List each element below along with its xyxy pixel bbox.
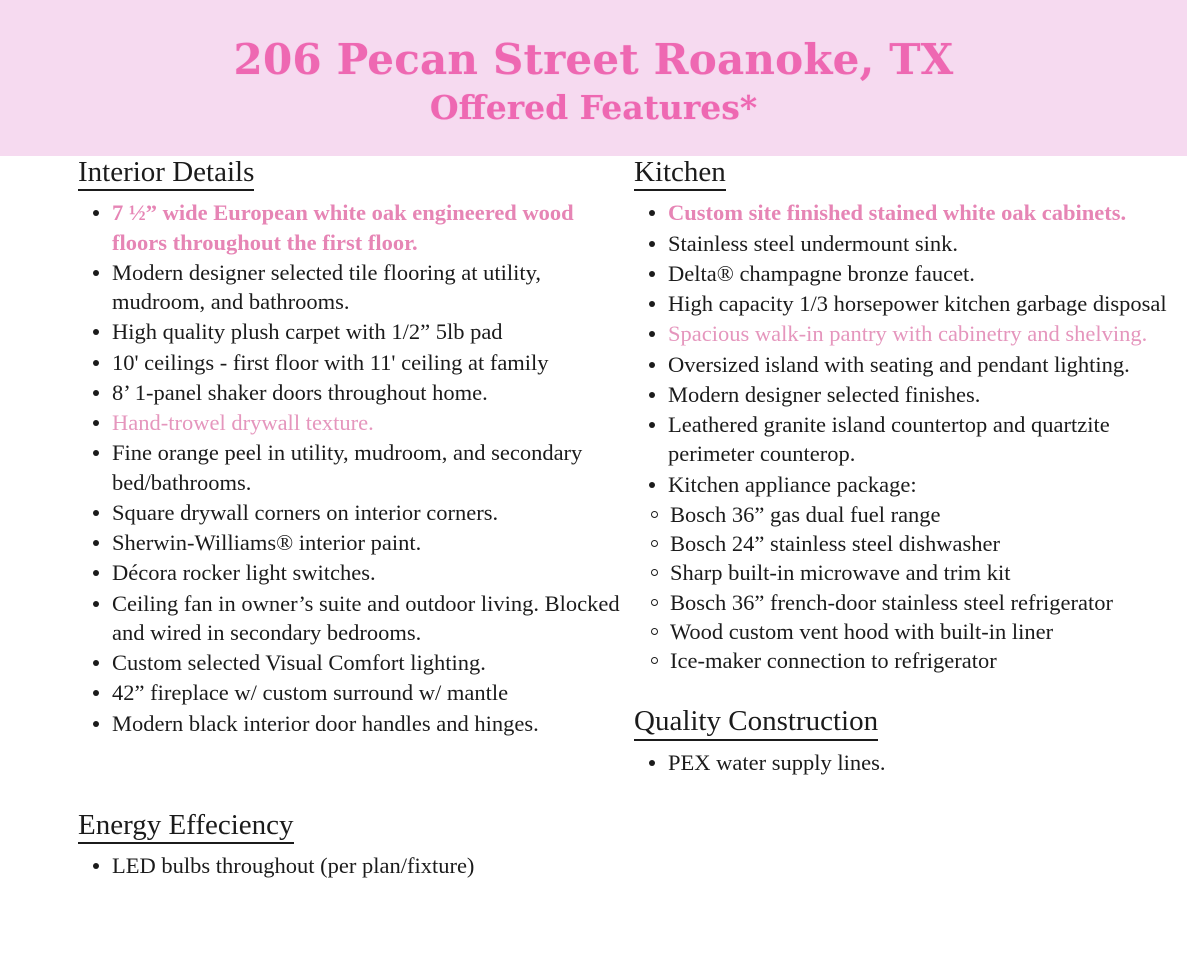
- list-item: Bosch 36” gas dual fuel range: [634, 500, 1187, 529]
- list-item: Custom site finished stained white oak c…: [634, 198, 1187, 227]
- interior-details-list: 7 ½” wide European white oak engineered …: [78, 198, 634, 738]
- energy-efficiency-list: LED bulbs throughout (per plan/fixture): [78, 851, 634, 880]
- list-item: Bosch 36” french-door stainless steel re…: [634, 588, 1187, 617]
- list-item: Wood custom vent hood with built-in line…: [634, 617, 1187, 646]
- list-item: Ice-maker connection to refrigerator: [634, 646, 1187, 675]
- column-spacer: [78, 739, 634, 809]
- list-item: 8’ 1-panel shaker doors throughout home.: [78, 378, 634, 407]
- list-item: Hand-trowel drywall texture.: [78, 408, 634, 437]
- section-heading-quality-construction: Quality Construction: [634, 705, 878, 740]
- content-columns: Interior Details 7 ½” wide European whit…: [0, 156, 1187, 881]
- section-heading-kitchen: Kitchen: [634, 156, 726, 191]
- list-item: Oversized island with seating and pendan…: [634, 350, 1187, 379]
- list-item: High capacity 1/3 horsepower kitchen gar…: [634, 289, 1187, 318]
- list-item: 7 ½” wide European white oak engineered …: [78, 198, 634, 257]
- list-item: Stainless steel undermount sink.: [634, 229, 1187, 258]
- list-item: High quality plush carpet with 1/2” 5lb …: [78, 317, 634, 346]
- section-heading-interior-details: Interior Details: [78, 156, 254, 191]
- right-column: Kitchen Custom site finished stained whi…: [634, 156, 1187, 881]
- page-header-band: 206 Pecan Street Roanoke, TX Offered Fea…: [0, 0, 1187, 156]
- kitchen-list: Custom site finished stained white oak c…: [634, 198, 1187, 499]
- list-item: Sherwin-Williams® interior paint.: [78, 528, 634, 557]
- section-quality-construction: Quality Construction PEX water supply li…: [634, 705, 1187, 777]
- list-item: Décora rocker light switches.: [78, 558, 634, 587]
- list-item: Delta® champagne bronze faucet.: [634, 259, 1187, 288]
- section-heading-energy-efficiency: Energy Effeciency: [78, 809, 294, 844]
- section-energy-efficiency: Energy Effeciency LED bulbs throughout (…: [78, 809, 634, 881]
- list-item: Bosch 24” stainless steel dishwasher: [634, 529, 1187, 558]
- list-item: Custom selected Visual Comfort lighting.: [78, 648, 634, 677]
- left-column: Interior Details 7 ½” wide European whit…: [78, 156, 634, 881]
- list-item: Kitchen appliance package:: [634, 470, 1187, 499]
- list-item: 10' ceilings - first floor with 11' ceil…: [78, 348, 634, 377]
- kitchen-appliance-package-list: Bosch 36” gas dual fuel range Bosch 24” …: [634, 500, 1187, 676]
- list-item: Modern designer selected tile flooring a…: [78, 258, 634, 317]
- list-item: 42” fireplace w/ custom surround w/ mant…: [78, 678, 634, 707]
- list-item: Sharp built-in microwave and trim kit: [634, 558, 1187, 587]
- list-item: Modern designer selected finishes.: [634, 380, 1187, 409]
- section-interior-details: Interior Details 7 ½” wide European whit…: [78, 156, 634, 738]
- list-item: Fine orange peel in utility, mudroom, an…: [78, 438, 634, 497]
- quality-construction-list: PEX water supply lines.: [634, 748, 1187, 777]
- document-page: 206 Pecan Street Roanoke, TX Offered Fea…: [0, 0, 1187, 960]
- list-item: PEX water supply lines.: [634, 748, 1187, 777]
- page-subtitle: Offered Features*: [0, 88, 1187, 128]
- column-spacer: [634, 675, 1187, 705]
- list-item: Modern black interior door handles and h…: [78, 709, 634, 738]
- list-item: Ceiling fan in owner’s suite and outdoor…: [78, 589, 634, 648]
- list-item: Spacious walk-in pantry with cabinetry a…: [634, 319, 1187, 348]
- list-item: LED bulbs throughout (per plan/fixture): [78, 851, 634, 880]
- section-kitchen: Kitchen Custom site finished stained whi…: [634, 156, 1187, 675]
- list-item: Square drywall corners on interior corne…: [78, 498, 634, 527]
- page-title: 206 Pecan Street Roanoke, TX: [0, 38, 1187, 82]
- list-item: Leathered granite island countertop and …: [634, 410, 1187, 469]
